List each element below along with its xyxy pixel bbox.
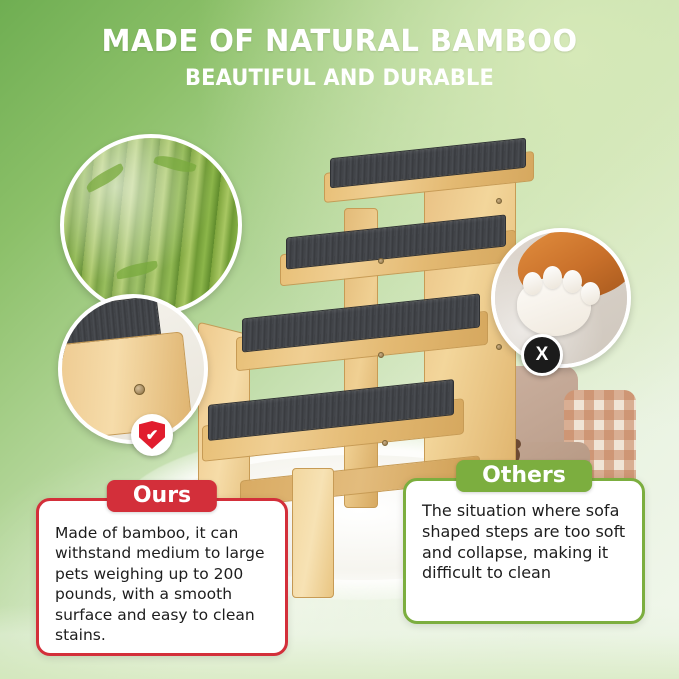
stairs-front-leg: [292, 468, 334, 598]
bamboo-forest-callout: [60, 134, 242, 316]
screw-icon: [378, 258, 384, 264]
stair-step-3: [236, 306, 488, 362]
paw-toe: [581, 282, 600, 305]
screw-icon: [134, 384, 145, 395]
header-block: MADE OF NATURAL BAMBOO BEAUTIFUL AND DUR…: [0, 24, 679, 91]
screw-icon: [496, 198, 502, 204]
cross-badge: X: [521, 334, 563, 376]
ours-description: Made of bamboo, it can withstand medium …: [39, 501, 285, 656]
others-description: The situation where sofa shaped steps ar…: [406, 481, 642, 594]
ours-tab-label: Ours: [107, 480, 217, 512]
others-tab-label: Others: [456, 460, 592, 492]
screw-icon: [378, 352, 384, 358]
paw-toe: [563, 270, 582, 293]
check-badge: ✔: [131, 414, 173, 456]
others-card: Others The situation where sofa shaped s…: [403, 478, 645, 624]
bamboo-board: [58, 331, 193, 440]
page-subtitle: BEAUTIFUL AND DURABLE: [17, 66, 662, 91]
product-infographic: MADE OF NATURAL BAMBOO BEAUTIFUL AND DUR…: [0, 0, 679, 679]
photo-highlight: [64, 138, 238, 312]
screw-icon: [382, 440, 388, 446]
stair-step-4: [202, 392, 464, 452]
check-icon: ✔: [139, 421, 165, 449]
stair-step-2: [280, 226, 516, 278]
page-title: MADE OF NATURAL BAMBOO: [10, 24, 669, 59]
step-corner-callout: [58, 294, 208, 444]
paw-toe: [543, 266, 562, 289]
paw-toe: [523, 272, 542, 295]
ours-card: Ours Made of bamboo, it can withstand me…: [36, 498, 288, 656]
stair-step-1: [324, 148, 534, 196]
